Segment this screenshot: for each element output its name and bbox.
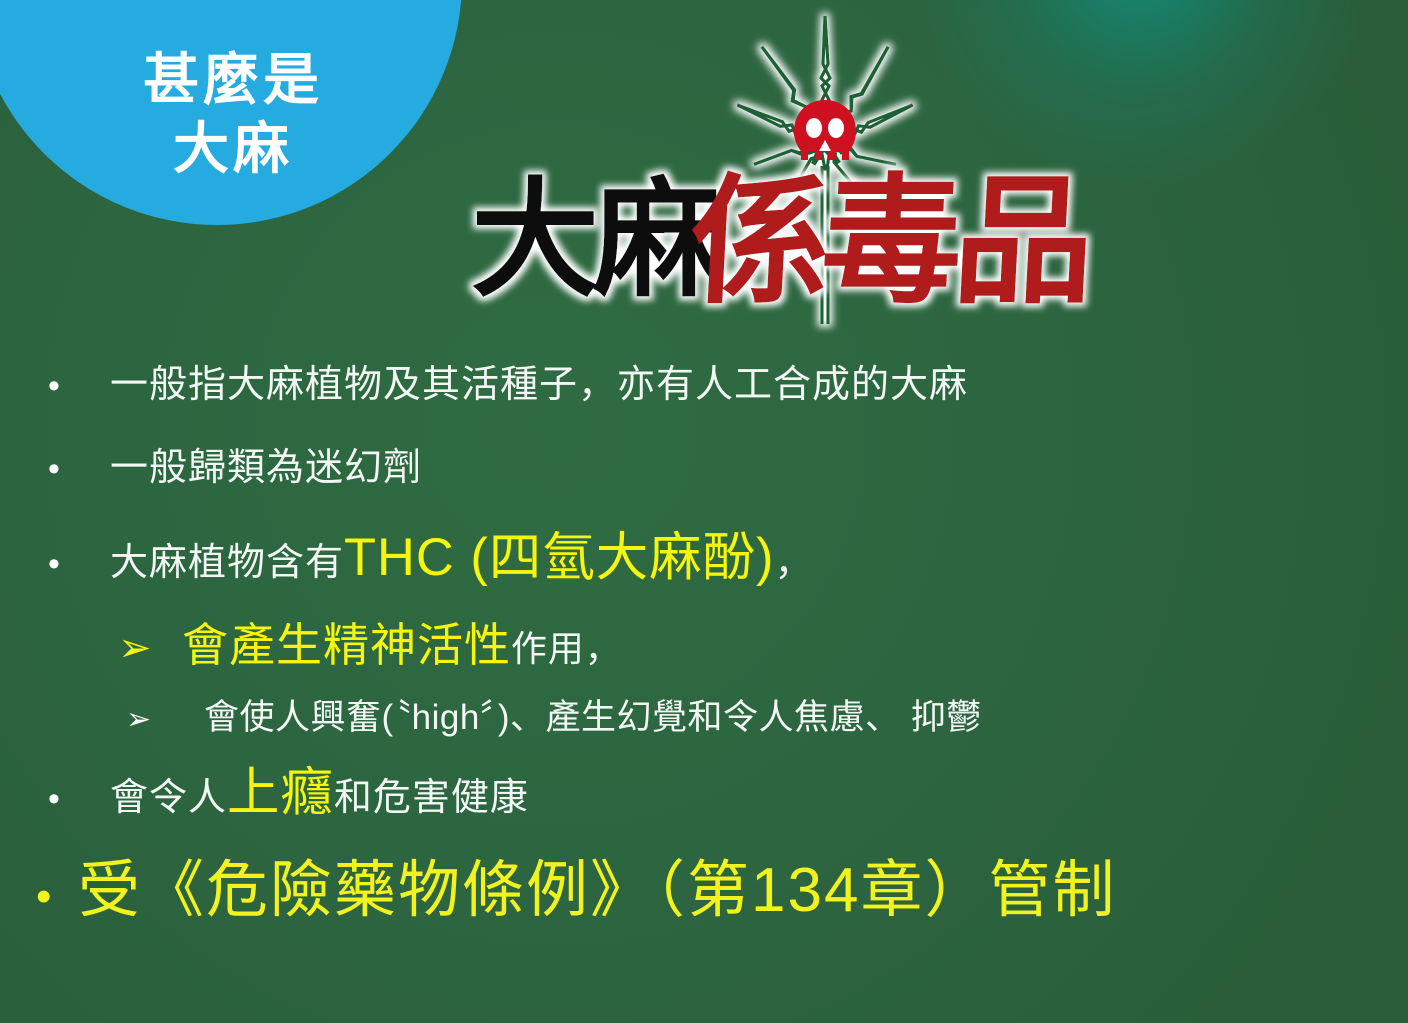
bullet-dot-icon: • bbox=[36, 875, 78, 919]
bullet-item-3: • 大麻植物含有THC (四氫大麻酚)， bbox=[0, 523, 1408, 594]
bullet-text-2: 一般歸類為迷幻劑 bbox=[110, 443, 422, 494]
skull-icon bbox=[794, 100, 856, 160]
bullet-item-6: • 會令人上癮和危害健康 bbox=[0, 758, 1408, 829]
bullet-text-3-highlight: THC (四氫大麻酚) bbox=[344, 529, 774, 587]
bullet-dot-icon: • bbox=[48, 452, 110, 486]
bullet-text-5-part-1: 會使人興奮(〝high〞)、產生幻覺和令人焦慮、 抑鬱 bbox=[204, 698, 982, 737]
bullet-text-4-highlight: 會產生精神活性 bbox=[182, 619, 511, 671]
bullet-text-6-part-1: 會令人 bbox=[110, 777, 227, 819]
bullet-text-5: 會使人興奮(〝high〞)、產生幻覺和令人焦慮、 抑鬱 bbox=[204, 689, 982, 740]
bullet-text-7: 受《危險藥物條例》（第134章）管制 bbox=[78, 839, 1116, 929]
bullet-text-6-highlight: 上癮 bbox=[227, 764, 334, 822]
bullet-text-6: 會令人上癮和危害健康 bbox=[110, 758, 529, 829]
bullet-text-3-part-1: 大麻植物含有 bbox=[110, 542, 344, 584]
logo-black-text: 大麻 bbox=[471, 169, 721, 312]
bullet-text-1-part-1: 一般指大麻植物及其活種子，亦有人工合成的大麻 bbox=[110, 364, 968, 406]
bullet-text-3-part-3: ， bbox=[774, 542, 813, 584]
bullet-dot-icon: • bbox=[48, 547, 110, 581]
bullet-item-4: ➢ 會產生精神活性作用， bbox=[0, 609, 1408, 675]
bullet-item-1: • 一般指大麻植物及其活種子，亦有人工合成的大麻 bbox=[0, 360, 1408, 411]
bullet-dot-icon: • bbox=[48, 782, 110, 816]
bullet-text-4-part-2: 作用， bbox=[511, 629, 622, 669]
cannabis-warning-logo: 大麻 係毒品 bbox=[455, 0, 1095, 344]
bullet-text-1: 一般指大麻植物及其活種子，亦有人工合成的大麻 bbox=[110, 360, 968, 411]
bullet-text-3: 大麻植物含有THC (四氫大麻酚)， bbox=[110, 523, 813, 594]
bullet-text-4: 會產生精神活性作用， bbox=[182, 609, 622, 675]
bullet-dot-icon: • bbox=[48, 369, 110, 403]
badge-line-1: 甚麼是 bbox=[143, 49, 323, 112]
bullet-text-6-part-3: 和危害健康 bbox=[334, 777, 529, 819]
bullet-text-7-part-1: 受《危險藥物條例》（第134章）管制 bbox=[78, 856, 1116, 925]
arrow-right-icon: ➢ bbox=[118, 628, 182, 668]
bullet-item-5: ➢ 會使人興奮(〝high〞)、產生幻覺和令人焦慮、 抑鬱 bbox=[0, 689, 1408, 740]
bullet-text-2-part-1: 一般歸類為迷幻劑 bbox=[110, 447, 422, 489]
title-badge-text: 甚麼是 大麻 bbox=[0, 0, 440, 230]
badge-line-2: 大麻 bbox=[173, 118, 293, 181]
bullet-item-2: • 一般歸類為迷幻劑 bbox=[0, 443, 1408, 494]
arrow-right-icon: ➢ bbox=[126, 705, 204, 735]
logo-red-text: 係毒品 bbox=[686, 163, 1090, 320]
bullet-list: • 一般指大麻植物及其活種子，亦有人工合成的大麻 • 一般歸類為迷幻劑 • 大麻… bbox=[0, 352, 1408, 929]
bullet-item-7: • 受《危險藥物條例》（第134章）管制 bbox=[0, 839, 1408, 929]
slide-canvas: 甚麼是 大麻 bbox=[0, 0, 1408, 1023]
